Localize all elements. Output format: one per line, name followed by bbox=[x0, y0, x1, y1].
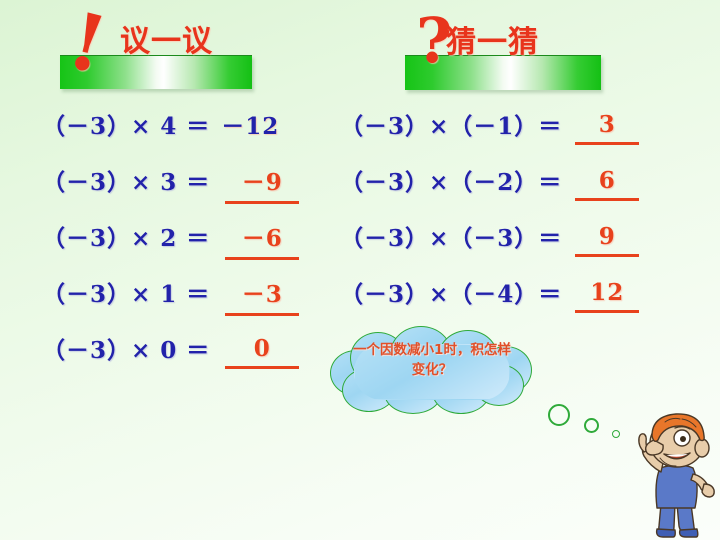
equation-row: （－3）× 0 ＝ 0 bbox=[42, 331, 299, 365]
header-left-title: 议一议 bbox=[120, 16, 213, 60]
equation-expression: （－3）×（－2）＝ bbox=[340, 163, 562, 197]
bubble-text: 一个因数减小1时，积怎样变化？ bbox=[350, 340, 514, 380]
equation-row: （－3）×（－1）＝ 3 bbox=[340, 107, 639, 141]
equation-expression: （－3）× 2 ＝ bbox=[42, 219, 210, 253]
equation-row: （－3）× 4 ＝ －12 bbox=[42, 107, 281, 141]
equation-answer[interactable]: 12 bbox=[575, 279, 639, 306]
equation-answer[interactable]: 9 bbox=[575, 223, 639, 250]
slide-canvas: ! 议一议 ? 猜一猜 （－3）× 4 ＝ －12 （－3）× 3 ＝ －9 （… bbox=[0, 0, 720, 540]
equation-row: （－3）×（－4）＝ 12 bbox=[340, 275, 639, 309]
equation-answer[interactable]: 0 bbox=[225, 335, 299, 362]
equation-answer[interactable]: 3 bbox=[575, 111, 639, 138]
equation-row: （－3）×（－2）＝ 6 bbox=[340, 163, 639, 197]
equation-expression: （－3）×（－1）＝ bbox=[340, 107, 562, 141]
equation-row: （－3）×（－3）＝ 9 bbox=[340, 219, 639, 253]
equation-answer[interactable]: －3 bbox=[225, 275, 299, 309]
bubble-tail-dot-large bbox=[548, 404, 570, 426]
header-right-title: 猜一猜 bbox=[446, 17, 539, 61]
equation-answer[interactable]: －9 bbox=[225, 163, 299, 197]
thought-bubble: 一个因数减小1时，积怎样变化？ bbox=[328, 326, 536, 414]
equation-answer[interactable]: －6 bbox=[225, 219, 299, 253]
equation-expression: （－3）× 1 ＝ bbox=[42, 275, 210, 309]
cartoon-boy-illustration bbox=[630, 408, 716, 538]
bubble-tail-dot-medium bbox=[584, 418, 599, 433]
equation-expression: （－3）× 3 ＝ bbox=[42, 163, 210, 197]
equation-answer[interactable]: 6 bbox=[575, 167, 639, 194]
bubble-tail-dot-small bbox=[612, 430, 620, 438]
equation-answer[interactable]: －12 bbox=[219, 107, 281, 141]
equation-expression: （－3）× 0 ＝ bbox=[42, 331, 210, 365]
equation-row: （－3）× 3 ＝ －9 bbox=[42, 163, 299, 197]
equation-expression: （－3）×（－4）＝ bbox=[340, 275, 562, 309]
equation-row: （－3）× 2 ＝ －6 bbox=[42, 219, 299, 253]
equation-row: （－3）× 1 ＝ －3 bbox=[42, 275, 299, 309]
equation-expression: （－3）×（－3）＝ bbox=[340, 219, 562, 253]
equation-expression: （－3）× 4 ＝ bbox=[42, 107, 210, 141]
